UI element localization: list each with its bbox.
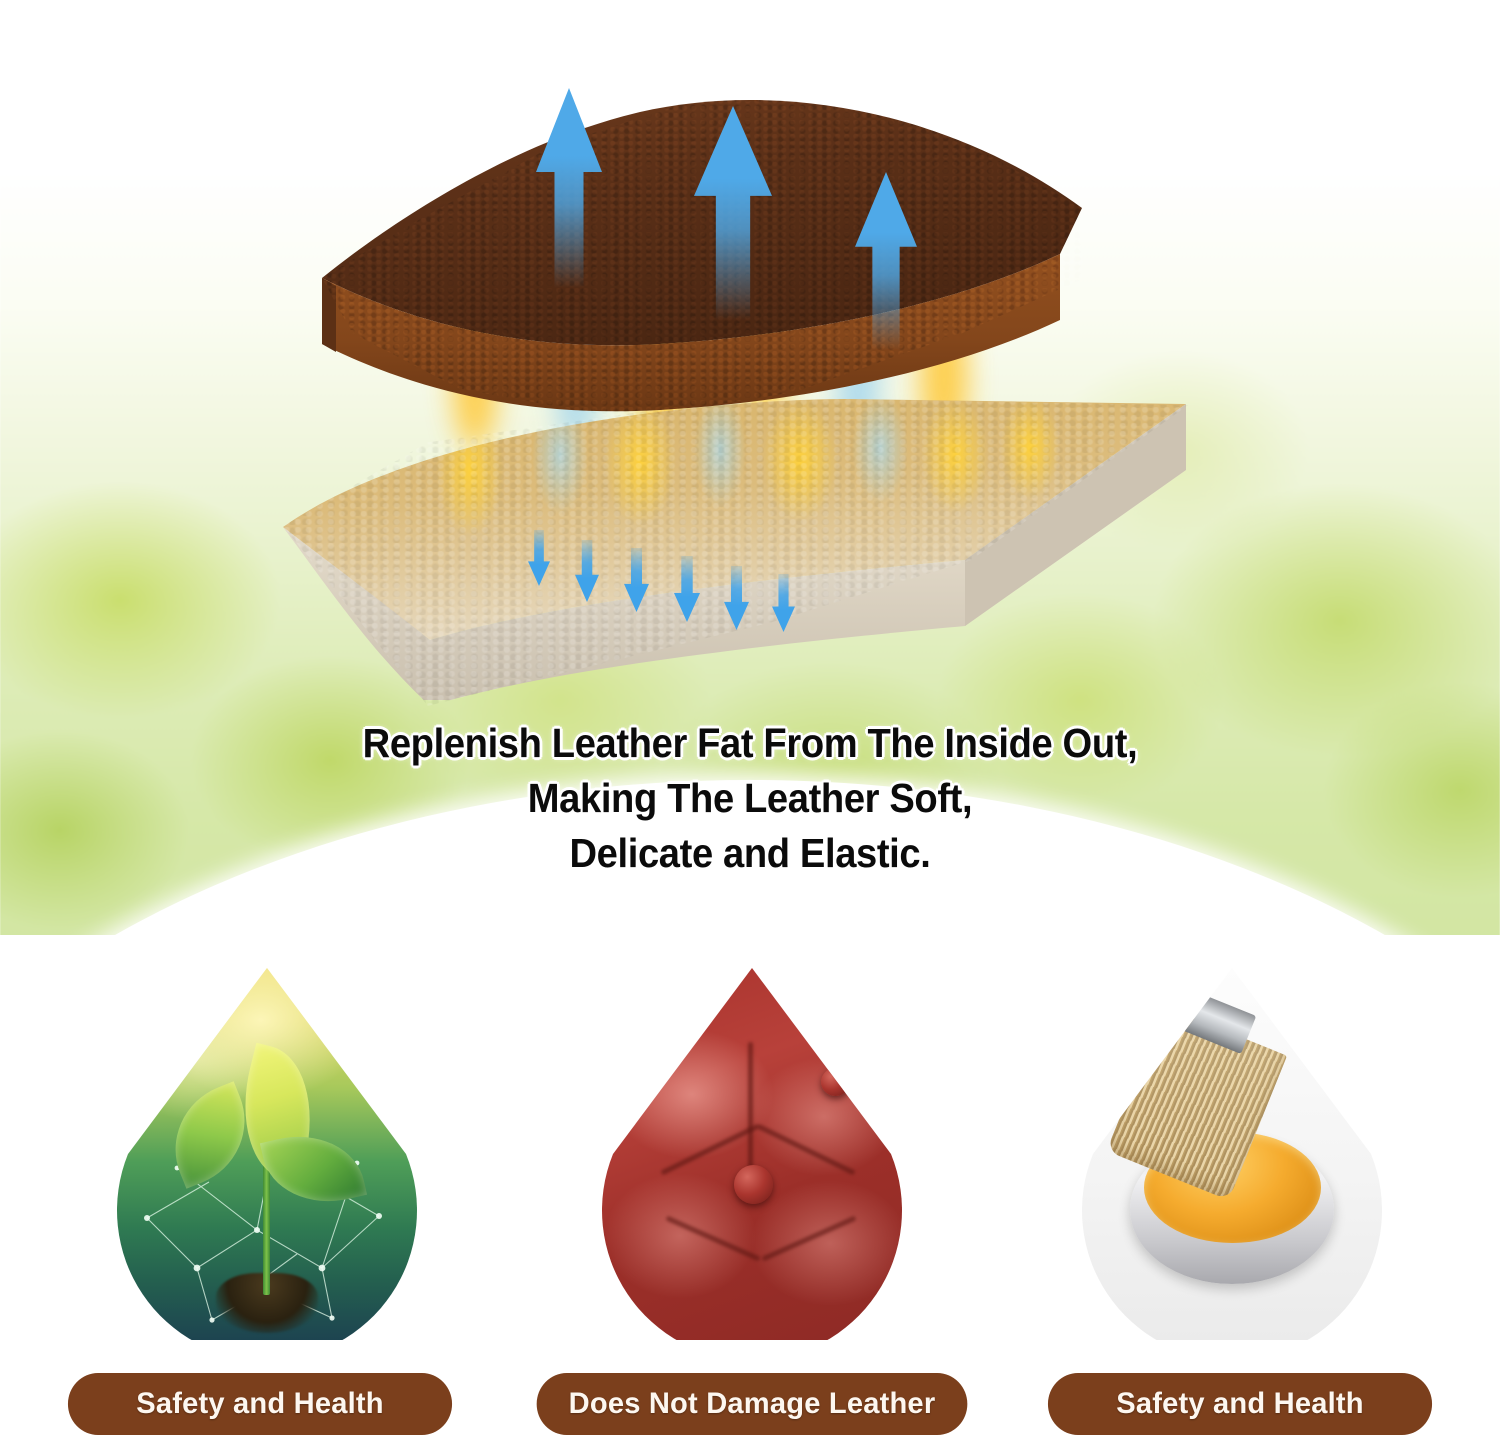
feature-label-safety: Safety and Health <box>1048 1373 1432 1435</box>
page-title: Replenish Leather Fat From The Inside Ou… <box>53 716 1448 881</box>
headline-line-2: Making The Leather Soft, <box>528 775 972 821</box>
headline-line-1: Replenish Leather Fat From The Inside Ou… <box>363 720 1138 766</box>
feature-label-text: Safety and Health <box>136 1387 383 1421</box>
product-infographic: Replenish Leather Fat From The Inside Ou… <box>0 0 1500 1448</box>
tuft-button-center <box>734 1165 773 1204</box>
top-leather-slab <box>0 0 1500 700</box>
feature-label-eco: Safety and Health <box>68 1373 452 1435</box>
feature-label-text: Safety and Health <box>1116 1387 1363 1421</box>
feature-label-no-damage: Does Not Damage Leather <box>537 1373 968 1435</box>
feature-label-text: Does Not Damage Leather <box>569 1387 936 1421</box>
leather-cross-section-diagram <box>0 0 1500 700</box>
tuft-seam <box>748 1042 753 1168</box>
headline-line-3: Delicate and Elastic. <box>570 830 931 876</box>
plant-stem <box>263 1154 271 1295</box>
